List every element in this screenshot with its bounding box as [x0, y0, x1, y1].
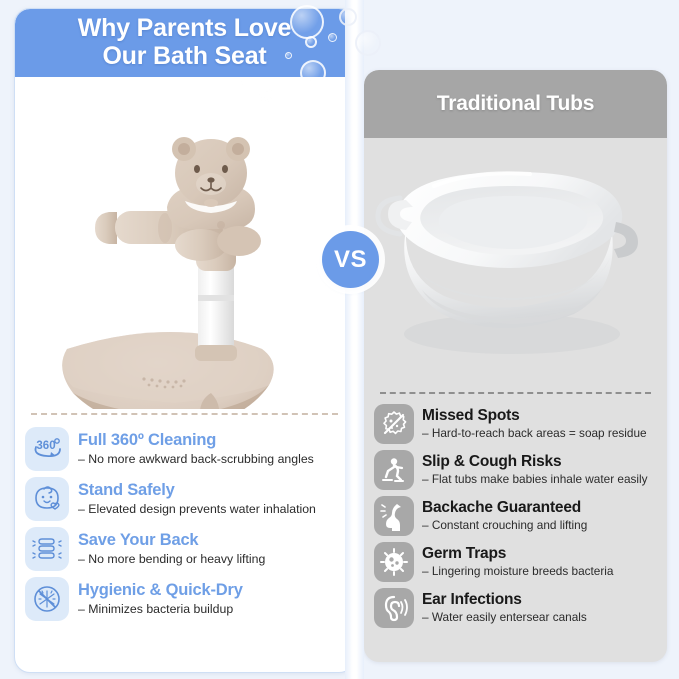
feature-title: Hygienic & Quick-Dry — [78, 581, 347, 600]
traditional-tub-product-image — [364, 138, 667, 388]
drawback-title: Missed Spots — [422, 407, 662, 425]
feature-text: Full 360º Cleaning – No more awkward bac… — [78, 431, 347, 467]
ear-icon — [374, 588, 414, 628]
bath-seat-product-image — [15, 77, 354, 409]
right-feature-list: Missed Spots – Hard-to-reach back areas … — [374, 404, 662, 634]
feature-subtitle: – Minimizes bacteria buildup — [78, 602, 347, 617]
baby-face-icon — [25, 477, 69, 521]
feature-text: Stand Safely – Elevated design prevents … — [78, 481, 347, 517]
feature-title: Save Your Back — [78, 531, 347, 550]
drawback-text: Slip & Cough Risks – Flat tubs make babi… — [422, 453, 662, 486]
vs-badge: VS — [322, 231, 379, 288]
360-rotation-icon: 360 — [25, 427, 69, 471]
drawback-subtitle: – Flat tubs make babies inhale water eas… — [422, 472, 662, 487]
drawback-text: Backache Guaranteed – Constant crouching… — [422, 499, 662, 532]
left-feature-list: 360 Full 360º Cleaning – No more awkward… — [25, 427, 347, 627]
left-title-line-2: Our Bath Seat — [78, 42, 292, 70]
drawback-text: Germ Traps – Lingering moisture breeds b… — [422, 545, 662, 578]
feature-stand-safely: Stand Safely – Elevated design prevents … — [25, 477, 347, 521]
drawback-backache-guaranteed: Backache Guaranteed – Constant crouching… — [374, 496, 662, 536]
feature-text: Hygienic & Quick-Dry – Minimizes bacteri… — [78, 581, 347, 617]
spine-icon — [25, 527, 69, 571]
feature-hygienic-quick-dry: Hygienic & Quick-Dry – Minimizes bacteri… — [25, 577, 347, 621]
drawback-missed-spots: Missed Spots – Hard-to-reach back areas … — [374, 404, 662, 444]
drawback-subtitle: – Constant crouching and lifting — [422, 518, 662, 533]
panel-separator-stripe — [345, 0, 364, 679]
feature-subtitle: – Elevated design prevents water inhalat… — [78, 502, 347, 517]
feature-subtitle: – No more awkward back-scrubbing angles — [78, 452, 347, 467]
drawback-title: Germ Traps — [422, 545, 662, 563]
slip-fall-icon — [374, 450, 414, 490]
left-divider-dashed — [31, 413, 338, 415]
knee-joint-icon — [374, 496, 414, 536]
right-panel-title: Traditional Tubs — [437, 92, 594, 116]
left-panel-header: Why Parents Love Our Bath Seat — [15, 9, 354, 77]
drawback-slip-cough-risks: Slip & Cough Risks – Flat tubs make babi… — [374, 450, 662, 490]
bath-seat-illustration — [15, 77, 354, 409]
feature-save-your-back: Save Your Back – No more bending or heav… — [25, 527, 347, 571]
drawback-ear-infections: Ear Infections – Water easily entersear … — [374, 588, 662, 628]
drawback-subtitle: – Water easily entersear canals — [422, 610, 662, 625]
tub-illustration — [364, 138, 667, 388]
feature-text: Save Your Back – No more bending or heav… — [78, 531, 347, 567]
feature-full-360-cleaning: 360 Full 360º Cleaning – No more awkward… — [25, 427, 347, 471]
drawback-text: Missed Spots – Hard-to-reach back areas … — [422, 407, 662, 440]
comparison-infographic: Why Parents Love Our Bath Seat — [0, 0, 679, 679]
germ-icon — [374, 542, 414, 582]
drawback-subtitle: – Lingering moisture breeds bacteria — [422, 564, 662, 579]
left-panel-bath-seat: Why Parents Love Our Bath Seat — [14, 8, 355, 673]
drawback-text: Ear Infections – Water easily entersear … — [422, 591, 662, 624]
drawback-title: Slip & Cough Risks — [422, 453, 662, 471]
drawback-subtitle: – Hard-to-reach back areas = soap residu… — [422, 426, 662, 441]
drawback-title: Backache Guaranteed — [422, 499, 662, 517]
right-divider-dashed — [380, 392, 651, 394]
right-panel-traditional-tubs: Traditional Tubs — [364, 70, 667, 662]
drawback-germ-traps: Germ Traps – Lingering moisture breeds b… — [374, 542, 662, 582]
right-panel-header: Traditional Tubs — [364, 70, 667, 138]
left-title-line-1: Why Parents Love — [78, 14, 292, 42]
feature-title: Stand Safely — [78, 481, 347, 500]
no-bacteria-icon — [25, 577, 69, 621]
feature-subtitle: – No more bending or heavy lifting — [78, 552, 347, 567]
dirty-spot-icon — [374, 404, 414, 444]
svg-text:360: 360 — [36, 440, 55, 452]
drawback-title: Ear Infections — [422, 591, 662, 609]
feature-title: Full 360º Cleaning — [78, 431, 347, 450]
left-panel-title: Why Parents Love Our Bath Seat — [78, 14, 292, 72]
